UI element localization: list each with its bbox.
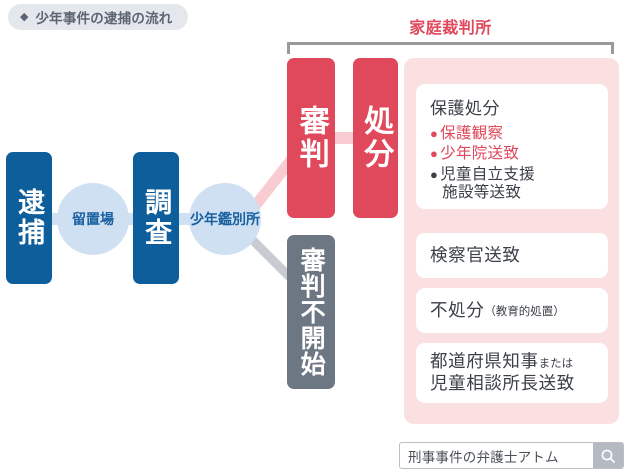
outcome-card-no-disposition-note: （教育的処置） <box>484 303 565 319</box>
search-input[interactable]: 刑事事件の弁護士アトム <box>400 443 593 468</box>
outcome-card-no-disposition: 不処分 （教育的処置） <box>416 288 608 333</box>
outcome-item-support-facility-label: 児童自立支援 施設等送致 <box>440 166 535 203</box>
outcome-card-governor-line1: 都道府県知事 <box>430 351 539 371</box>
stage-box-no-hearing: 審判不開始 <box>287 235 335 389</box>
stage-box-disposition: 処分 <box>353 58 398 218</box>
outcome-card-governor-text: 都道府県知事または 児童相談所長送致 <box>430 351 575 395</box>
outcome-card-protective: 保護処分 ● 保護観察 ● 少年院送致 ● 児童自立支援 施設等送致 <box>416 84 608 209</box>
search-icon <box>600 448 616 464</box>
bracket-line <box>287 42 614 45</box>
bracket-tick-right <box>611 42 614 54</box>
outcome-item-probation: ● 保護観察 <box>430 125 594 143</box>
outcome-item-support-facility-line1: 児童自立支援 <box>440 166 535 183</box>
outcome-item-reformatory: ● 少年院送致 <box>430 145 594 163</box>
bullet-dot-icon: ● <box>430 145 438 163</box>
header-badge: ◆ 少年事件の逮捕の流れ <box>8 4 188 30</box>
outcome-item-reformatory-label: 少年院送致 <box>440 145 519 163</box>
stage-circle-classification-label: 少年鑑別所 <box>190 211 260 227</box>
outcome-item-support-facility: ● 児童自立支援 施設等送致 <box>430 166 594 203</box>
stage-circle-classification: 少年鑑別所 <box>189 183 261 255</box>
page-title: 少年事件の逮捕の流れ <box>35 7 172 27</box>
stage-circle-detention: 留置場 <box>57 183 129 255</box>
stage-box-investigation: 調査 <box>133 152 179 284</box>
stage-box-no-hearing-label: 審判不開始 <box>298 247 324 377</box>
family-court-label: 家庭裁判所 <box>287 14 614 38</box>
outcome-card-governor: 都道府県知事または 児童相談所長送致 <box>416 343 608 403</box>
outcome-item-support-facility-line2: 施設等送致 <box>440 184 535 202</box>
outcome-card-protective-title: 保護処分 <box>430 94 594 119</box>
outcome-card-governor-line1-wrap: 都道府県知事または <box>430 351 575 373</box>
outcome-card-governor-line1-small: または <box>539 358 574 370</box>
search-bar[interactable]: 刑事事件の弁護士アトム <box>399 442 624 469</box>
diamond-icon: ◆ <box>20 12 28 23</box>
stage-box-arrest-label: 逮捕 <box>15 188 43 248</box>
bullet-dot-icon: ● <box>430 125 438 143</box>
outcome-card-prosecutor-label: 検察官送致 <box>430 245 521 267</box>
stage-box-hearing: 審判 <box>287 58 335 218</box>
outcome-card-governor-line2: 児童相談所長送致 <box>430 373 575 395</box>
stage-circle-detention-label: 留置場 <box>72 211 114 227</box>
bracket-tick-left <box>287 42 290 54</box>
stage-box-investigation-label: 調査 <box>142 188 170 248</box>
family-court-bracket <box>287 42 614 54</box>
stage-box-hearing-label: 審判 <box>295 105 327 171</box>
stage-box-arrest: 逮捕 <box>6 152 52 284</box>
bullet-dot-icon: ● <box>430 166 438 184</box>
outcome-card-no-disposition-label: 不処分 <box>430 300 484 322</box>
outcome-item-probation-label: 保護観察 <box>440 125 503 143</box>
outcome-card-prosecutor: 検察官送致 <box>416 233 608 278</box>
diagram-canvas: ◆ 少年事件の逮捕の流れ 家庭裁判所 逮捕 留置場 調査 少年鑑別所 審判 処分… <box>0 0 630 474</box>
search-button[interactable] <box>593 443 623 468</box>
stage-box-disposition-label: 処分 <box>360 105 392 171</box>
